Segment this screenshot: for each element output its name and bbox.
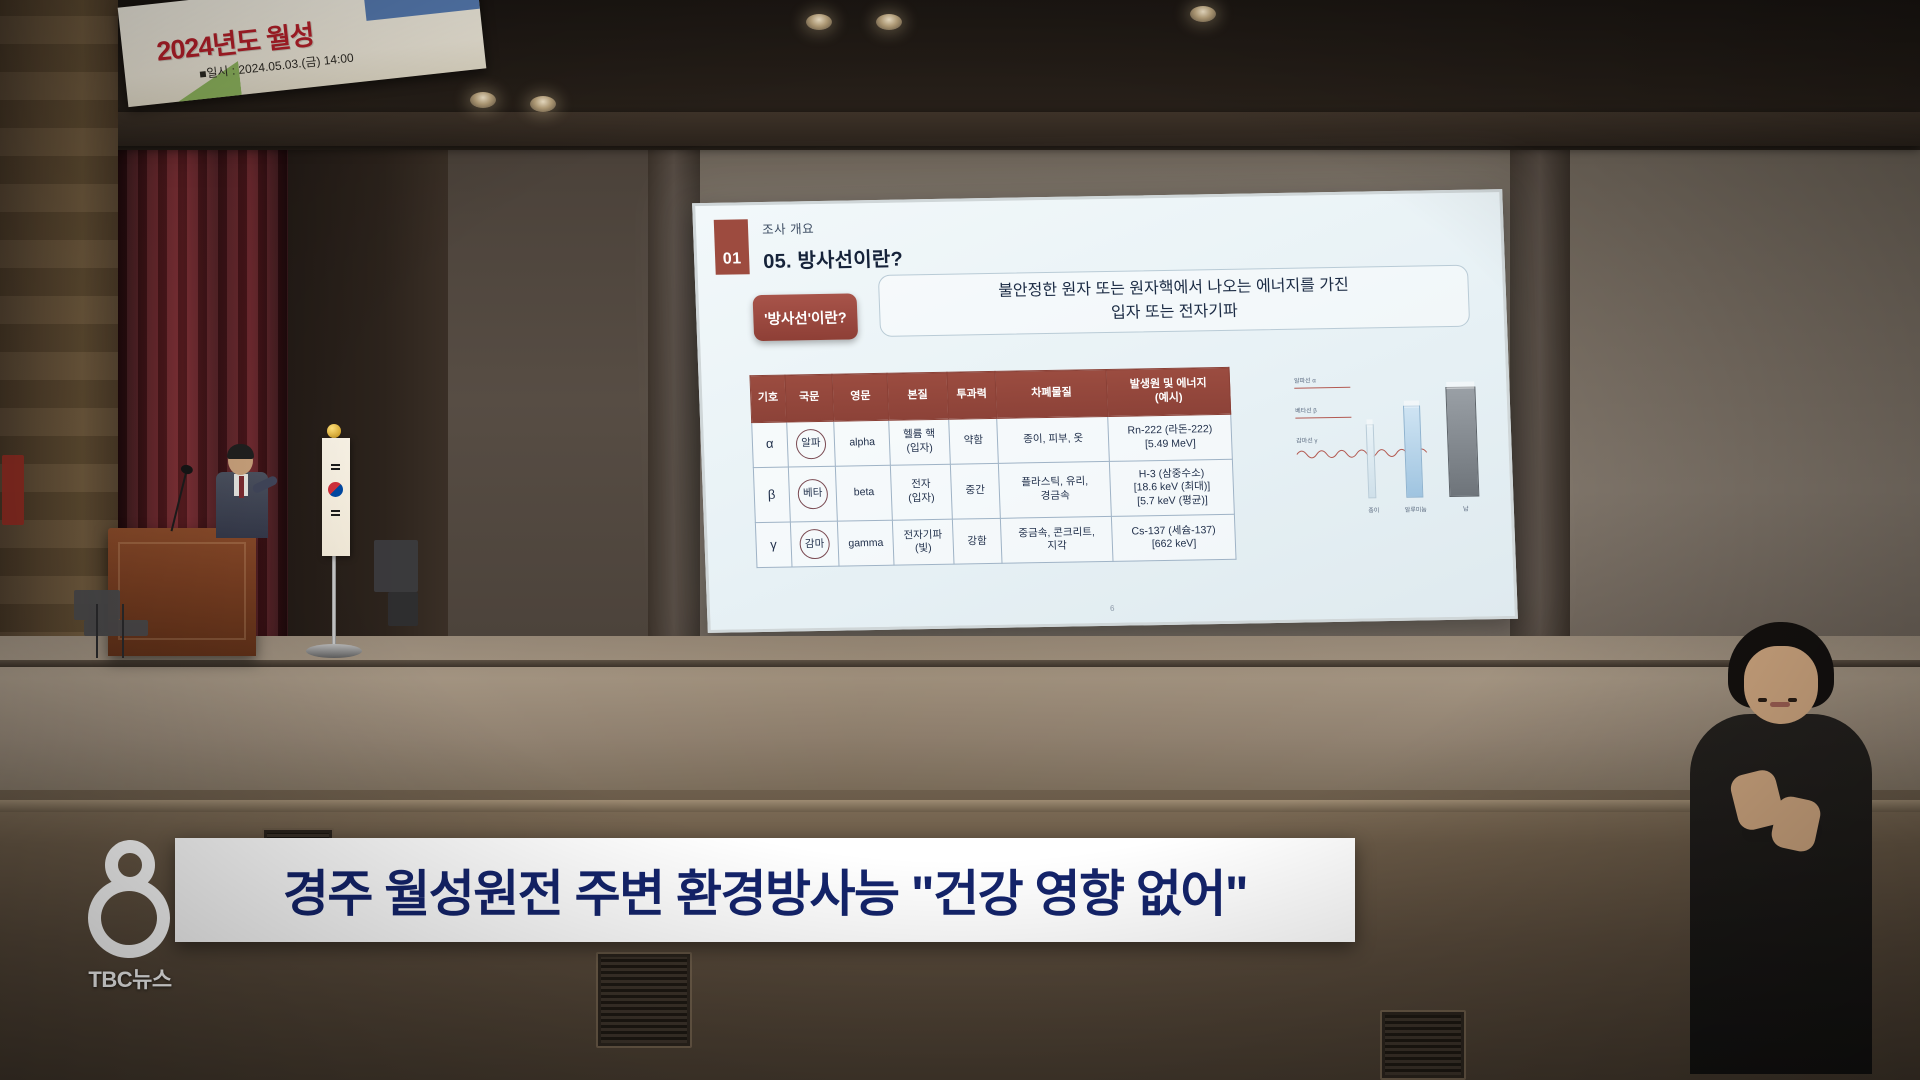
- slide-chip-label: '방사선'이란?: [753, 293, 859, 341]
- radiation-types-table: 기호 국문 영문 본질 투과력 차폐물질 발생원 및 에너지 (예시): [749, 367, 1236, 569]
- source-line-1: Rn-222 (라돈-222): [1111, 423, 1229, 439]
- col-source-line-2: (예시): [1110, 391, 1228, 407]
- stage-equipment: [84, 620, 148, 636]
- news-headline: 경주 월성원전 주변 환경방사능 "건강 영향 없어": [175, 838, 1355, 942]
- cell-shielding: 종이, 피부, 옷: [997, 416, 1110, 463]
- nature-line-1: 헬륨 핵: [892, 428, 947, 443]
- cell-english: beta: [836, 465, 893, 522]
- lower-third-banner: 경주 월성원전 주변 환경방사능 "건강 영향 없어": [175, 838, 1355, 942]
- stage-equipment: [374, 540, 418, 592]
- channel-logo-text: TBC뉴스: [88, 962, 171, 994]
- broadcast-frame: 2024년도 월성 ■일시 : 2024.05.03.(금) 14:00 01 …: [0, 0, 1920, 1080]
- shielding-line-2: 경금속: [1002, 489, 1109, 504]
- ray-label-alpha: 알파선 α: [1294, 375, 1316, 384]
- cell-penetration: 약함: [948, 418, 998, 464]
- ray-label-beta: 베타선 β: [1295, 405, 1317, 414]
- nature-line-2: (빛): [896, 542, 951, 557]
- logo-8-mark-icon: [83, 840, 177, 958]
- flag-base: [306, 644, 362, 658]
- cell-korean: 알파: [786, 421, 835, 467]
- interpreter-torso: [1690, 714, 1872, 1074]
- barrier-lead: [1445, 387, 1479, 497]
- col-penetration: 투과력: [947, 371, 997, 418]
- korean-term: 감마: [799, 529, 830, 560]
- slide-section-number: 01: [714, 219, 750, 275]
- table-row: β 베타 beta 전자 (입자) 중간 플라스틱, 유리, 경금속: [753, 459, 1234, 523]
- wall-sign: [2, 455, 24, 525]
- source-line-2: [5.49 MeV]: [1111, 436, 1229, 452]
- nature-line-2: (입자): [894, 492, 949, 507]
- cell-symbol: β: [753, 467, 790, 523]
- korean-term: 알파: [795, 428, 826, 459]
- cell-nature: 전자기파 (빛): [892, 520, 953, 566]
- slide-page-number: 6: [1110, 604, 1115, 613]
- presentation-slide: 01 조사 개요 05. 방사선이란? '방사선'이란? 불안정한 원자 또는 …: [695, 192, 1515, 630]
- ceiling-light: [806, 14, 832, 30]
- barrier-label-lead: 납: [1451, 503, 1481, 513]
- shielding-line-1: 중금속, 콘크리트,: [1003, 526, 1110, 541]
- nature-line-1: 전자기파: [895, 528, 950, 543]
- stage-dark-panel: [288, 140, 448, 660]
- cell-english: gamma: [838, 521, 894, 567]
- channel-logo: TBC뉴스: [70, 840, 190, 1000]
- col-english: 영문: [832, 373, 888, 420]
- table-header-row: 기호 국문 영문 본질 투과력 차폐물질 발생원 및 에너지 (예시): [750, 367, 1231, 422]
- banner-graphic-blue: [359, 0, 486, 21]
- cell-korean: 베타: [788, 466, 838, 523]
- taeguk-symbol: [328, 482, 343, 497]
- col-source: 발생원 및 에너지 (예시): [1106, 367, 1230, 416]
- barrier-paper: [1366, 424, 1377, 498]
- nature-line-2: (입자): [892, 441, 947, 456]
- stage-apron-molding: [0, 800, 1920, 812]
- shielding-line-2: 지각: [1004, 539, 1111, 554]
- cell-shielding: 플라스틱, 유리, 경금속: [998, 461, 1111, 519]
- stage-edge: [0, 660, 1920, 667]
- cell-penetration: 강함: [952, 519, 1002, 565]
- source-line-2: [662 keV]: [1115, 537, 1233, 553]
- col-korean: 국문: [784, 374, 834, 421]
- ceiling-light: [470, 92, 496, 108]
- col-shielding: 차폐물질: [995, 369, 1108, 417]
- cell-source: H-3 (삼중수소) [18.6 keV (최대)] [5.7 keV (평균)…: [1110, 459, 1235, 517]
- cell-source: Rn-222 (라돈-222) [5.49 MeV]: [1108, 414, 1232, 461]
- table-row: γ 감마 gamma 전자기파 (빛) 강함 중금속, 콘크리트, 지각: [755, 515, 1236, 568]
- interpreter-face: [1744, 646, 1818, 724]
- definition-line-1: 불안정한 원자 또는 원자핵에서 나오는 에너지를 가진: [998, 274, 1349, 304]
- floor-vent: [1380, 1010, 1466, 1080]
- nature-line-1: 전자: [893, 478, 948, 493]
- stage-equipment: [388, 592, 418, 626]
- col-symbol: 기호: [750, 375, 786, 422]
- slide-eyebrow: 조사 개요: [762, 217, 902, 238]
- korean-flag: [322, 438, 350, 556]
- slide-title: 05. 방사선이란?: [763, 243, 904, 274]
- interpreter-mouth: [1770, 702, 1790, 707]
- cell-shielding: 중금속, 콘크리트, 지각: [1000, 517, 1113, 564]
- cell-source: Cs-137 (세슘-137) [662 keV]: [1112, 515, 1236, 562]
- projection-screen: 01 조사 개요 05. 방사선이란? '방사선'이란? 불안정한 원자 또는 …: [692, 189, 1518, 633]
- col-nature: 본질: [887, 372, 948, 420]
- definition-line-2: 입자 또는 전자기파: [1111, 300, 1239, 326]
- stage-wall-panel: [448, 140, 648, 660]
- barrier-label-paper: 종이: [1357, 505, 1391, 515]
- shielding-line-1: 종이, 피부, 옷: [1000, 432, 1107, 447]
- ceiling-light: [530, 96, 556, 112]
- penetration-diagram: 알파선 α 베타선 β 감마선 γ 종이 알루미늄 납: [1290, 368, 1496, 521]
- barrier-label-aluminum: 알루미늄: [1395, 504, 1437, 514]
- ceiling-soffit: [0, 112, 1920, 146]
- sign-language-interpreter: [1682, 622, 1874, 1074]
- slide-header: 01 조사 개요 05. 방사선이란?: [714, 217, 904, 275]
- podium: [108, 528, 256, 656]
- stage-pillar-right: [1510, 140, 1570, 660]
- presenter: [214, 446, 274, 538]
- cell-symbol: γ: [755, 522, 791, 568]
- flag-pole-finial: [327, 424, 341, 438]
- ray-label-gamma: 감마선 γ: [1296, 435, 1318, 444]
- ceiling-light: [876, 14, 902, 30]
- slide-definition-bubble: 불안정한 원자 또는 원자핵에서 나오는 에너지를 가진 입자 또는 전자기파: [878, 265, 1470, 337]
- barrier-aluminum: [1403, 406, 1423, 498]
- cell-english: alpha: [834, 420, 890, 466]
- source-line-3: [5.7 keV (평균)]: [1113, 494, 1231, 510]
- korean-term: 베타: [797, 479, 828, 510]
- cell-symbol: α: [752, 422, 788, 468]
- cell-nature: 헬륨 핵 (입자): [889, 419, 950, 465]
- cell-nature: 전자 (입자): [890, 464, 952, 521]
- ceiling-light: [1190, 6, 1216, 22]
- source-line-1: Cs-137 (세슘-137): [1115, 524, 1233, 540]
- floor-vent: [596, 952, 692, 1048]
- cell-penetration: 중간: [950, 463, 1000, 520]
- cell-korean: 감마: [790, 522, 839, 568]
